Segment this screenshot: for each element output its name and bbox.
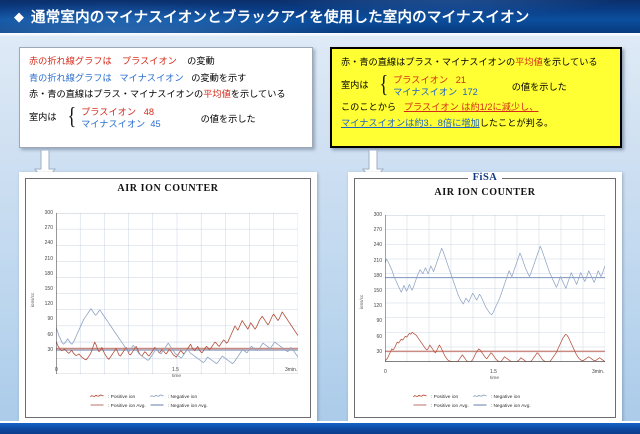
- legend-swatch: [148, 393, 166, 402]
- left-line2-tail: の変動を示す: [191, 73, 246, 83]
- right-box-line-1: 赤・青の直線はプラス・マイナスイオンの平均値を示している: [341, 56, 612, 70]
- fisa-logo-band: FiSA: [355, 172, 615, 184]
- left-plot-svg: [56, 213, 298, 374]
- left-line2-blue: 青の折れ線グラフは: [29, 73, 112, 83]
- y-axis-tick: 300: [362, 212, 382, 218]
- left-chart-legend: : Positive ion: Negative ion: Positive i…: [88, 393, 210, 411]
- left-callout-box: 赤の折れ線グラフは プラスイオン の変動 青の折れ線グラフは マイナスイオン の…: [19, 47, 313, 148]
- y-axis-tick: 120: [362, 303, 382, 309]
- x-axis-tick: 3min.: [592, 369, 604, 375]
- x-axis-label: time: [172, 374, 181, 379]
- left-chart-title: AIR ION COUNTER: [26, 183, 310, 194]
- right-chart-frame: FiSA AIR ION COUNTER 3002702402101801501…: [354, 178, 616, 418]
- y-axis-tick: 90: [33, 316, 53, 322]
- legend-swatch: [88, 402, 106, 411]
- left-line3-tail: を示している: [231, 89, 286, 99]
- y-axis-tick: 240: [33, 240, 53, 246]
- left-line1-red: 赤の折れ線グラフは: [29, 56, 112, 66]
- right-line3-head: このことから: [341, 102, 396, 112]
- y-axis-tick: 270: [33, 225, 53, 231]
- y-axis-tick: 60: [362, 334, 382, 340]
- legend-label: : Positive ion: [429, 393, 471, 402]
- diamond-bullet-icon: ◆: [14, 10, 24, 23]
- right-line1-tail: を示している: [543, 57, 598, 67]
- x-axis-tick: 0: [384, 369, 387, 375]
- legend-swatch: [148, 402, 166, 411]
- left-plus-label: プラスイオン: [81, 107, 136, 117]
- right-line4-underlined: マイナスイオンは約3．8倍に増加: [341, 118, 480, 128]
- legend-row: : Positive ion: Negative ion: [411, 393, 533, 402]
- x-axis-tick: 1.5: [172, 367, 179, 373]
- left-chart-frame: AIR ION COUNTER 300270240210180150120906…: [25, 178, 311, 418]
- right-values: プラスイオン 21 マイナスイオン 172: [393, 74, 478, 98]
- right-plus-label: プラスイオン: [393, 75, 448, 85]
- logo-rule-right: [502, 178, 615, 179]
- legend-label: : Negative ion: [166, 393, 210, 402]
- left-values-suffix: の値を示した: [201, 111, 256, 125]
- fisa-logo: FiSA: [468, 172, 503, 184]
- y-axis-tick: 150: [362, 288, 382, 294]
- legend-swatch: [471, 402, 489, 411]
- legend-label: : Negative ion: [489, 393, 533, 402]
- legend-label: : Positive ion Avg.: [429, 402, 471, 411]
- right-minus-value: 172: [462, 87, 477, 97]
- right-line1-average: 平均値: [515, 57, 543, 67]
- left-minus-label: マイナスイオン: [81, 119, 145, 129]
- right-values-suffix: の値を示した: [512, 79, 567, 93]
- right-box-line-4: マイナスイオンは約3．8倍に増加したことが判る。: [341, 117, 612, 131]
- left-indoor-label: 室内は: [29, 111, 57, 125]
- legend-swatch: [471, 393, 489, 402]
- legend-swatch: [88, 393, 106, 402]
- left-box-line-2: 青の折れ線グラフは マイナスイオン の変動を示す: [29, 72, 304, 86]
- left-plot-area: [56, 213, 298, 365]
- left-minus-value: 45: [150, 119, 160, 129]
- legend-row: : Positive ion: Negative ion: [88, 393, 210, 402]
- right-chart-panel: FiSA AIR ION COUNTER 3002702402101801501…: [348, 172, 622, 424]
- legend-label: : Negative ion Avg.: [489, 402, 533, 411]
- left-box-line-1: 赤の折れ線グラフは プラスイオン の変動: [29, 55, 304, 69]
- legend-row: : Positive ion Avg.: Negative ion Avg.: [411, 402, 533, 411]
- left-box-line-3: 赤・青の直線はプラス・マイナスイオンの平均値を示している: [29, 88, 304, 102]
- slide: ◆ 通常室内のマイナスイオンとブラックアイを使用した室内のマイナスイオン 赤の折…: [0, 0, 640, 434]
- right-plus-value: 21: [456, 75, 466, 85]
- x-axis-tick: 1.5: [490, 369, 497, 375]
- legend-label: : Negative ion Avg.: [166, 402, 210, 411]
- legend-label: : Positive ion: [106, 393, 148, 402]
- left-plus-value: 48: [144, 107, 154, 117]
- page-title: 通常室内のマイナスイオンとブラックアイを使用した室内のマイナスイオン: [31, 6, 530, 27]
- right-plot-svg: [385, 215, 605, 362]
- right-box-line-3: このことから プラスイオン は約1/2に減少し、: [341, 101, 612, 115]
- y-axis-tick: 180: [33, 271, 53, 277]
- y-axis-label: ions/cc: [359, 295, 364, 309]
- y-axis-tick: 30: [362, 349, 382, 355]
- bottom-bar: [0, 423, 640, 434]
- right-plot-area: [385, 215, 605, 367]
- left-line1-plusion: プラスイオン: [122, 56, 177, 66]
- legend-swatch: [411, 402, 429, 411]
- curly-brace-icon: {: [379, 80, 388, 91]
- slide-header: ◆ 通常室内のマイナスイオンとブラックアイを使用した室内のマイナスイオン: [0, 0, 640, 33]
- x-axis-tick: 3min.: [285, 367, 297, 373]
- right-chart-legend: : Positive ion: Negative ion: Positive i…: [411, 393, 533, 411]
- y-axis-tick: 210: [362, 258, 382, 264]
- left-box-values-row: 室内は { プラスイオン 48 マイナスイオン 45 の値を示した: [29, 106, 304, 130]
- logo-rule-left: [355, 178, 468, 179]
- left-line3-head: 赤・青の直線はプラス・マイナスイオンの: [29, 89, 203, 99]
- header-separator: [0, 33, 640, 36]
- right-chart-title: AIR ION COUNTER: [355, 187, 615, 198]
- y-axis-tick: 240: [362, 242, 382, 248]
- y-axis-label: ions/cc: [30, 293, 35, 307]
- legend-swatch: [411, 393, 429, 402]
- right-minus-label: マイナスイオン: [393, 87, 457, 97]
- right-indoor-label: 室内は: [341, 79, 369, 93]
- y-axis-tick: 120: [33, 301, 53, 307]
- left-chart-panel: AIR ION COUNTER 300270240210180150120906…: [19, 172, 317, 424]
- legend-row: : Positive ion Avg.: Negative ion Avg.: [88, 402, 210, 411]
- y-axis-tick: 180: [362, 273, 382, 279]
- x-axis-label: time: [490, 376, 499, 381]
- right-line3-underlined: プラスイオン は約1/2に減少し、: [404, 102, 539, 112]
- right-callout-box: 赤・青の直線はプラス・マイナスイオンの平均値を示している 室内は { プラスイオ…: [330, 47, 622, 148]
- left-line2-minusion: マイナスイオン: [119, 73, 183, 83]
- right-line1-head: 赤・青の直線はプラス・マイナスイオンの: [341, 57, 515, 67]
- y-axis-tick: 150: [33, 286, 53, 292]
- x-axis-tick: 0: [55, 367, 58, 373]
- y-axis-tick: 300: [33, 210, 53, 216]
- left-line1-tail: の変動: [187, 56, 215, 66]
- left-line3-average: 平均値: [203, 89, 231, 99]
- left-values: プラスイオン 48 マイナスイオン 45: [81, 106, 161, 130]
- curly-brace-icon: {: [67, 112, 76, 123]
- right-box-values-row: 室内は { プラスイオン 21 マイナスイオン 172 の値を示した: [341, 74, 612, 98]
- right-line4-tail: したことが判る。: [480, 118, 554, 128]
- y-axis-tick: 90: [362, 318, 382, 324]
- y-axis-tick: 60: [33, 332, 53, 338]
- legend-label: : Positive ion Avg.: [106, 402, 148, 411]
- y-axis-tick: 270: [362, 227, 382, 233]
- y-axis-tick: 30: [33, 347, 53, 353]
- y-axis-tick: 210: [33, 256, 53, 262]
